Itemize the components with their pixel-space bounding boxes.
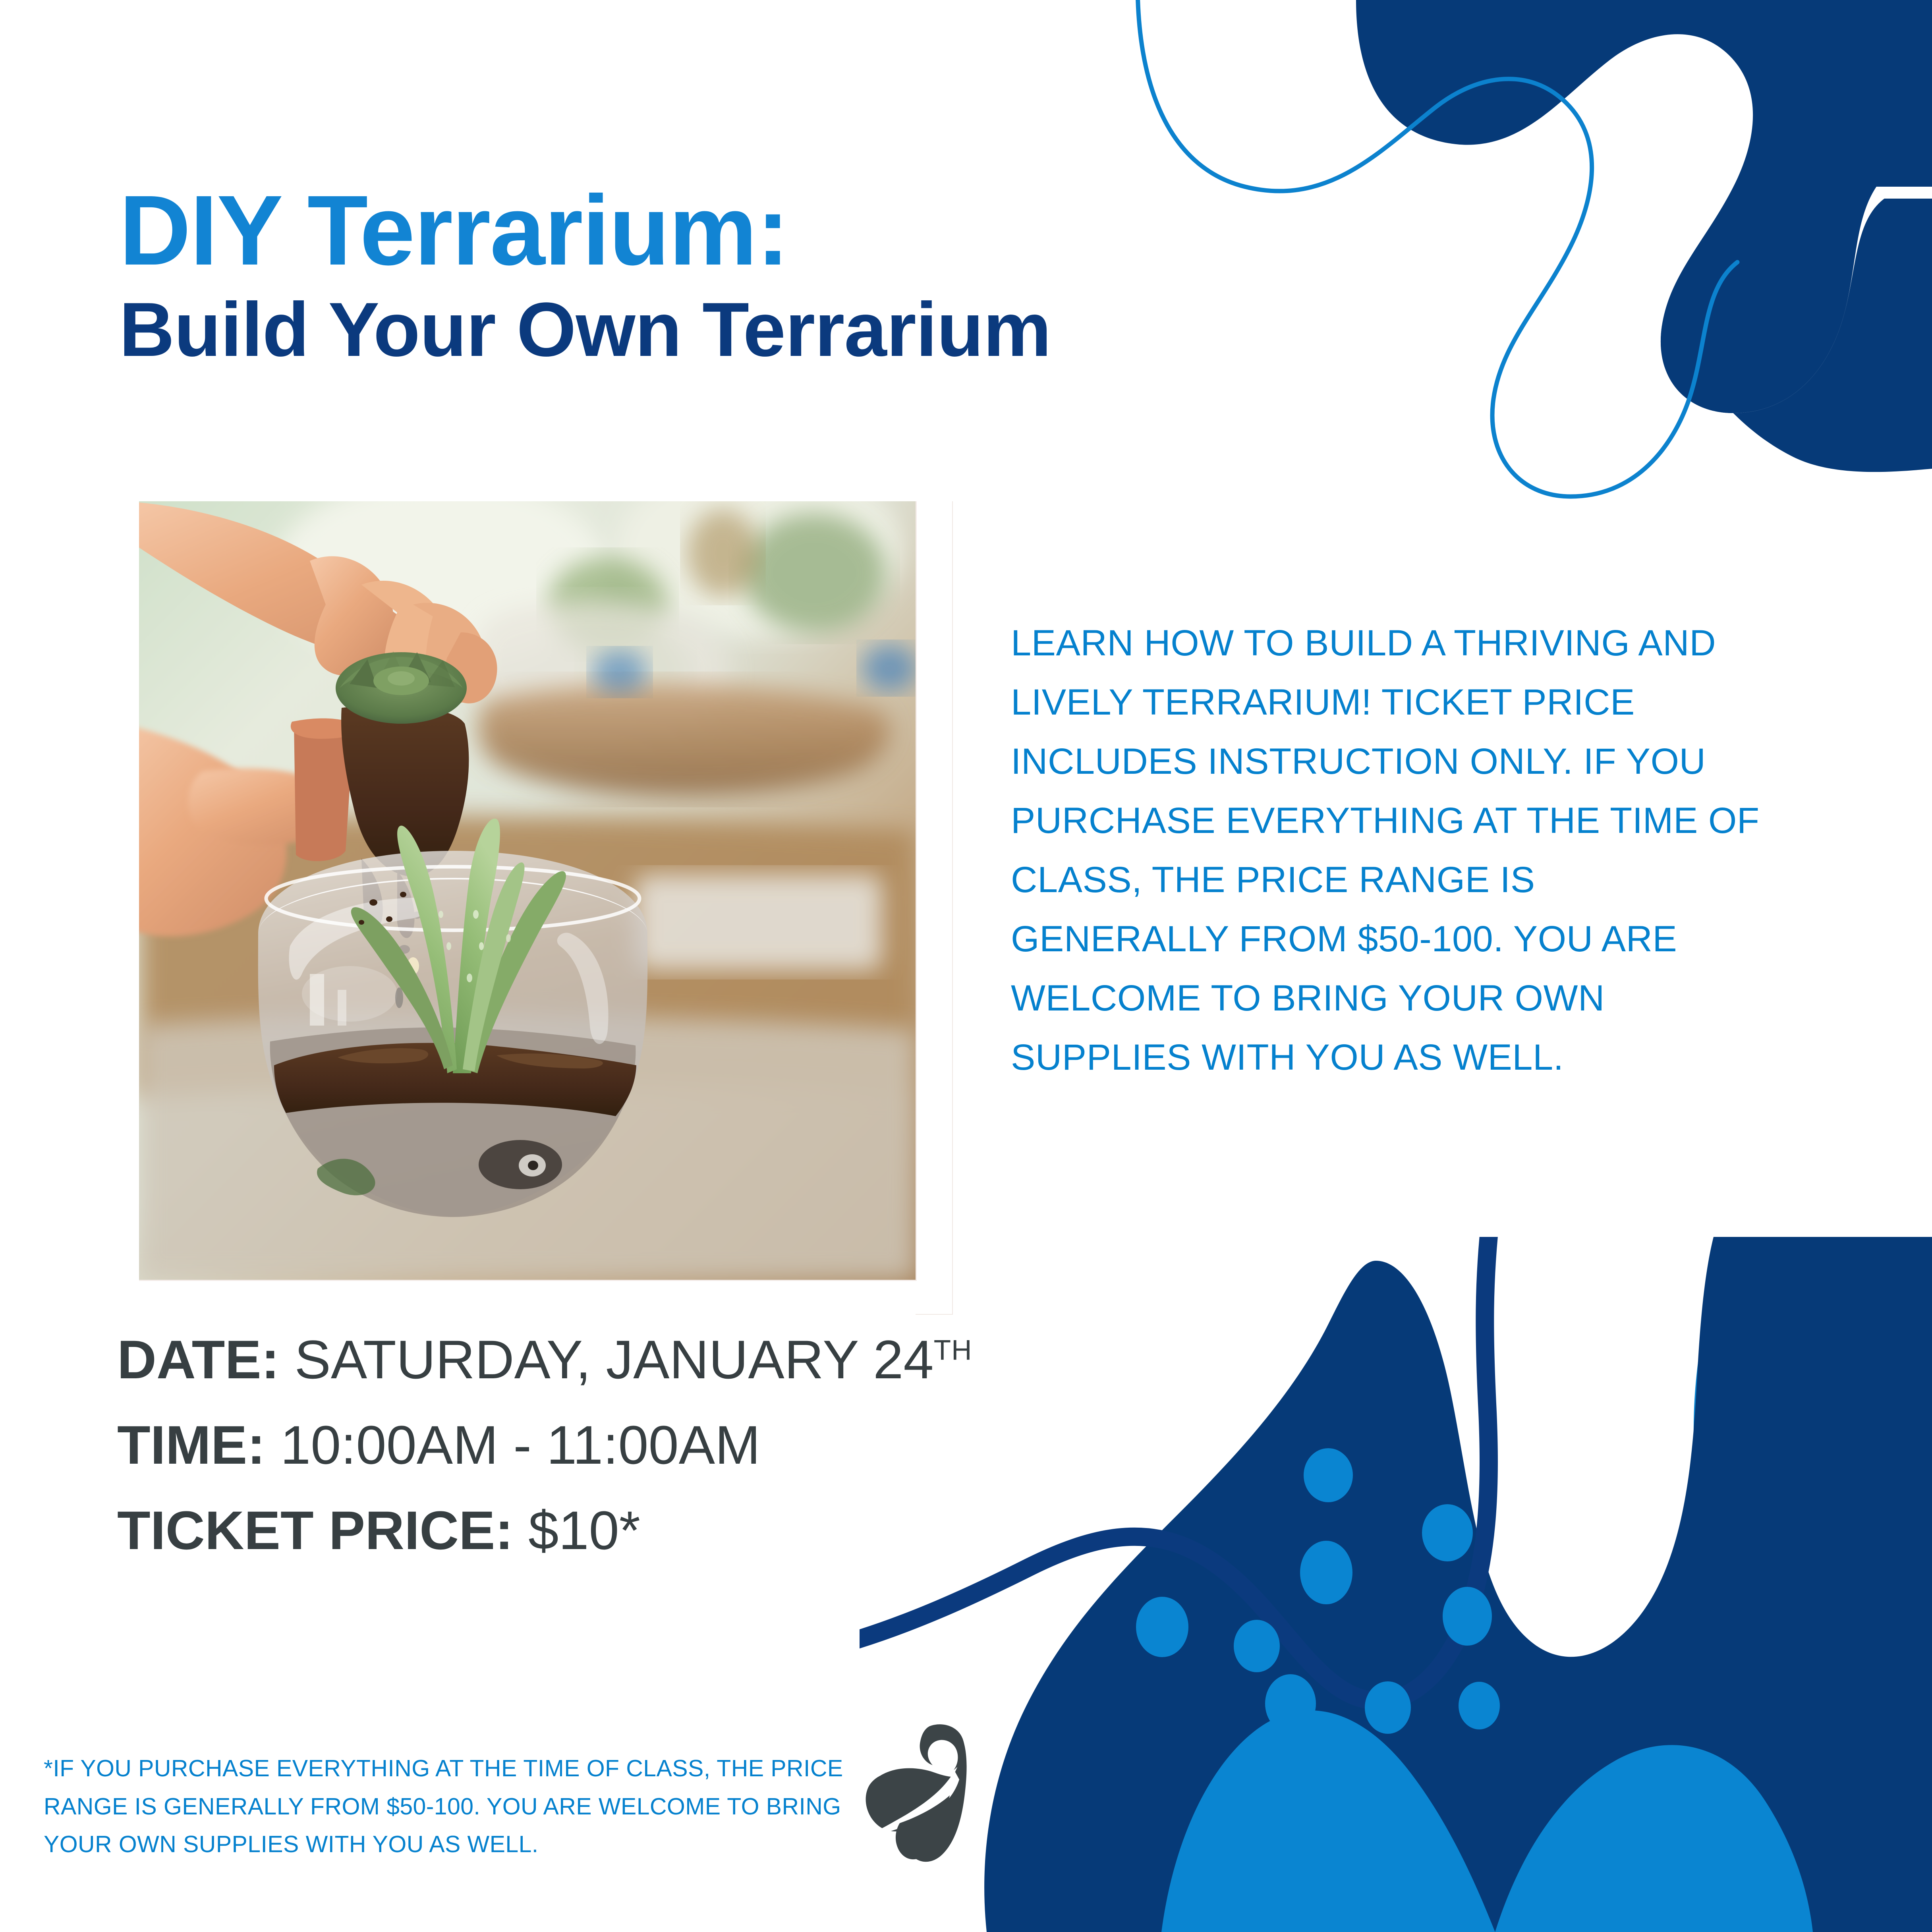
ticket-price-value: $10* [528, 1500, 640, 1561]
poster-canvas: DIY Terrarium: Build Your Own Terrarium [0, 0, 1932, 1932]
time-value: 10:00AM - 11:00AM [280, 1415, 760, 1476]
date-value: SATURDAY, JANUARY 24 [294, 1329, 933, 1390]
event-details: DATE: SATURDAY, JANUARY 24TH TIME: 10:00… [117, 1333, 1349, 1558]
leaf-logo [860, 1724, 1019, 1895]
detail-row-time: TIME: 10:00AM - 11:00AM [117, 1418, 1349, 1472]
page-title-secondary: Build Your Own Terrarium [119, 289, 1311, 370]
date-label: DATE: [117, 1329, 279, 1390]
description-paragraph: Learn how to build a thriving and lively… [1011, 614, 1762, 1087]
footnote-disclaimer: *If you purchase everything at the time … [44, 1750, 862, 1864]
date-ordinal-suffix: TH [934, 1335, 972, 1366]
title-block: DIY Terrarium: Build Your Own Terrarium [119, 181, 1311, 370]
detail-row-date: DATE: SATURDAY, JANUARY 24TH [117, 1333, 1349, 1387]
ticket-price-label: TICKET PRICE: [117, 1500, 513, 1561]
terrarium-photo [139, 501, 917, 1281]
photo-frame-edge [916, 501, 953, 1315]
detail-row-ticket-price: TICKET PRICE: $10* [117, 1503, 1349, 1558]
page-title-primary: DIY Terrarium: [119, 181, 1311, 280]
time-label: TIME: [117, 1415, 265, 1476]
